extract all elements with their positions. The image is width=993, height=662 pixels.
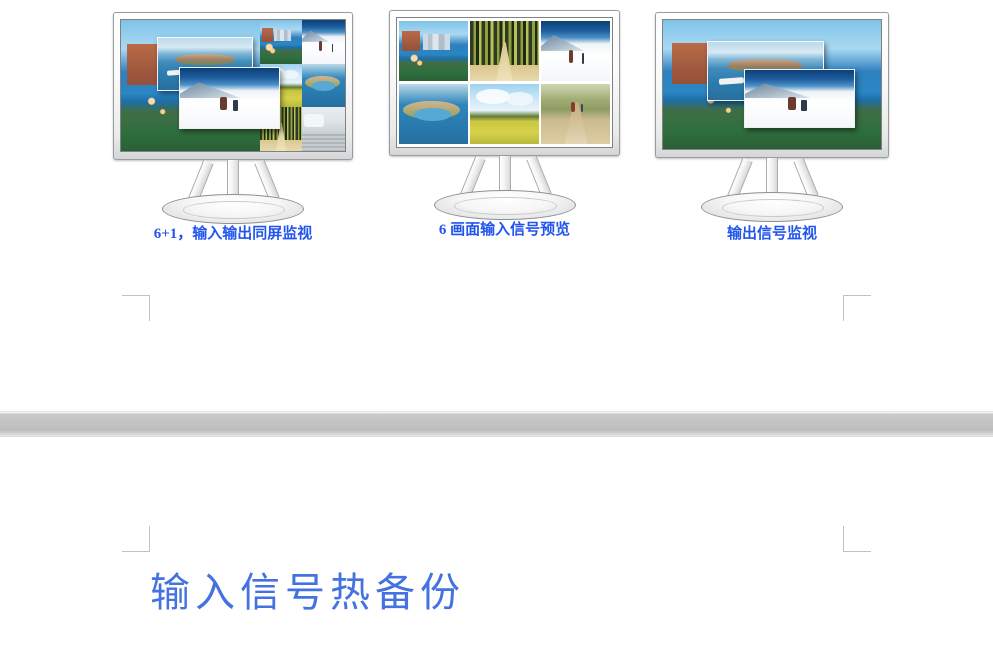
monitor-2-bezel (389, 10, 620, 156)
monitor-2-screen (396, 17, 613, 148)
stand-neck (499, 156, 511, 194)
screen-tile-r2c2 (470, 84, 539, 145)
photo-snow (541, 21, 610, 82)
photo-city (260, 20, 303, 64)
stand-base (701, 192, 843, 222)
page-separator (0, 411, 993, 437)
margin-mark-top-right (843, 295, 871, 321)
photo-city (399, 21, 468, 82)
monitor-1: 6+1，输入输出同屏监视 (113, 12, 353, 224)
monitor-2: 6 画面输入信号预览 (389, 10, 620, 220)
monitor-2-caption: 6 画面输入信号预览 (389, 218, 620, 239)
monitor-3-screen (662, 19, 882, 150)
photo-forest (470, 21, 539, 82)
overlay-window-2[interactable] (179, 67, 280, 129)
photo-winter (302, 107, 345, 151)
screen-tile-r1c1 (399, 21, 468, 82)
monitor-1-stand (113, 160, 353, 224)
monitor-3: 输出信号监视 (655, 12, 889, 222)
stand-base (162, 194, 304, 224)
stand-base (434, 190, 576, 220)
photo-cove (399, 84, 468, 145)
screen-tile-r1c1 (260, 20, 303, 64)
photo-road (541, 84, 610, 145)
screen-tile-r2c3 (541, 84, 610, 145)
stand-neck (227, 160, 239, 198)
monitor-3-stand (655, 158, 889, 222)
screen-tile-r2c1 (399, 84, 468, 145)
monitor-3-caption: 输出信号监视 (655, 222, 889, 243)
page-heading: 输入信号热备份 (150, 560, 465, 618)
monitor-1-screen (120, 19, 346, 152)
screen-tile-r1c2 (470, 21, 539, 82)
screen-tile-r1c2 (302, 20, 345, 64)
margin-mark-bottom-left (122, 526, 150, 552)
document-page: 6+1，输入输出同屏监视 (0, 0, 993, 662)
stand-neck (766, 158, 778, 196)
margin-mark-top-left (122, 295, 150, 321)
monitor-1-caption: 6+1，输入输出同屏监视 (113, 222, 353, 243)
screen-tile-r2c2 (302, 64, 345, 108)
monitor-3-bezel (655, 12, 889, 158)
photo-field (470, 84, 539, 145)
screen-tile-r3c2 (302, 107, 345, 151)
margin-mark-bottom-right (843, 526, 871, 552)
monitor-1-bezel (113, 12, 353, 160)
photo-snow (745, 70, 854, 127)
monitor-2-stand (389, 156, 620, 220)
screen-tile-r1c3 (541, 21, 610, 82)
photo-snow (302, 20, 345, 64)
photo-snow (180, 68, 279, 128)
photo-cove (302, 64, 345, 108)
overlay-window-2[interactable] (744, 69, 855, 128)
